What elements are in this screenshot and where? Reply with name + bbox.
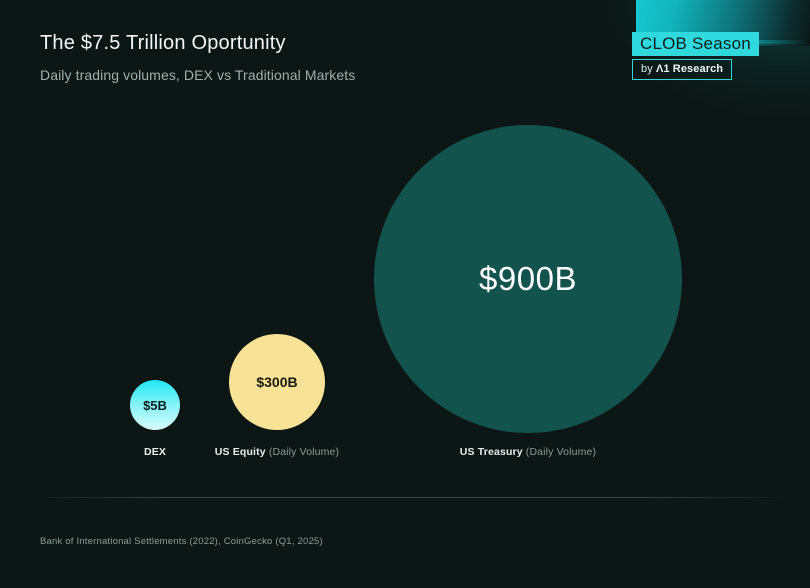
bubble-dex: $5B (130, 380, 180, 430)
bubble-dex-value: $5B (143, 398, 167, 413)
bubble-chart: $5B $300B $900B DEX US Equity (Daily Vol… (0, 0, 810, 470)
footer-divider (28, 497, 782, 498)
category-label-us-equity-main: US Equity (215, 446, 266, 458)
bubble-us-treasury-value: $900B (479, 260, 577, 298)
slide-canvas: CLOB Season by Λ1 Research The $7.5 Tril… (0, 0, 810, 588)
category-label-us-treasury-main: US Treasury (460, 446, 523, 458)
category-label-dex-main: DEX (144, 446, 166, 458)
category-label-us-equity: US Equity (Daily Volume) (197, 446, 357, 458)
bubble-us-treasury: $900B (374, 125, 682, 433)
bubble-us-equity-value: $300B (256, 374, 297, 390)
category-label-us-treasury: US Treasury (Daily Volume) (448, 446, 608, 458)
bubble-us-equity: $300B (229, 334, 325, 430)
category-label-us-equity-sub: (Daily Volume) (266, 446, 339, 458)
category-label-us-treasury-sub: (Daily Volume) (523, 446, 596, 458)
source-citation: Bank of International Settlements (2022)… (40, 536, 323, 547)
